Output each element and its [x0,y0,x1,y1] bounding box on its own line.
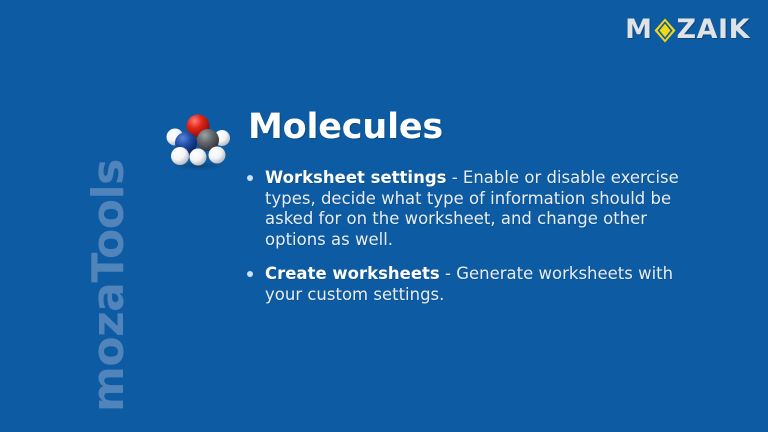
feature-term: Create worksheets [265,264,440,283]
page-title: Molecules [248,107,443,147]
mozaik-logo[interactable]: M ZAIK [625,15,750,43]
feature-dash: - [440,264,456,283]
logo-text-prefix: M [625,16,652,43]
logo-text-suffix: ZAIK [677,16,750,43]
title-row: Molecules [160,105,720,167]
bullet-icon [247,271,253,277]
slide-canvas: M ZAIK mozaTools [0,0,768,432]
molecule-3d-icon [160,110,236,172]
vertical-brand-label: mozaTools [83,159,134,412]
feature-term: Worksheet settings [265,168,446,187]
bullet-icon [247,175,253,181]
logo-diamond-icon [654,18,676,43]
content-area: Molecules Worksheet settings - Enable or… [160,105,720,167]
feature-dash: - [446,168,462,187]
feature-item-create-worksheets: Create worksheets - Generate worksheets … [245,264,700,305]
vertical-brand-watermark: mozaTools [0,0,140,432]
feature-item-worksheet-settings: Worksheet settings - Enable or disable e… [245,168,700,250]
feature-list: Worksheet settings - Enable or disable e… [245,168,700,305]
